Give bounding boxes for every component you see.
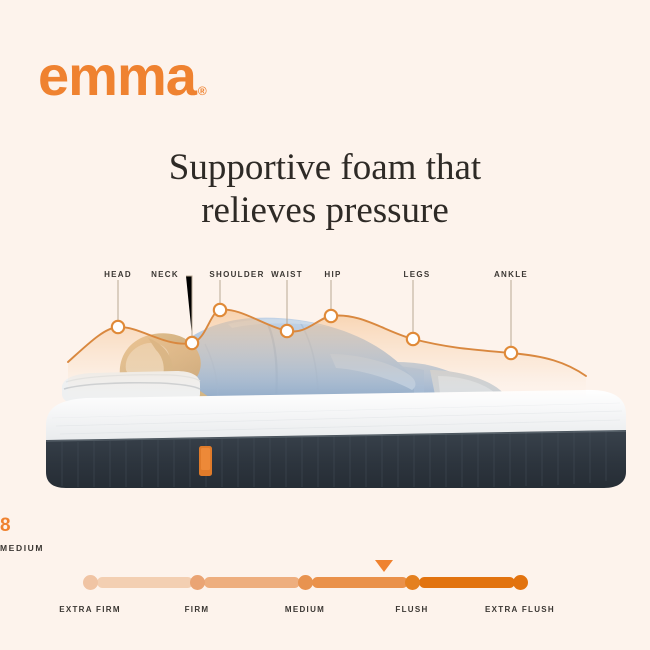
- scale-dot-extra-firm[interactable]: [83, 575, 98, 590]
- bodypart-label-head: HEAD: [104, 270, 132, 279]
- emma-logo: emma ®: [38, 48, 207, 104]
- firmness-rating-label: MEDIUM: [0, 543, 650, 553]
- marker-neck: [186, 337, 198, 349]
- scale-label-flush: FLUSH: [395, 605, 428, 614]
- page-title: Supportive foam that relieves pressure: [0, 146, 650, 233]
- scale-dot-flush[interactable]: [405, 575, 420, 590]
- firmness-scale: 8 MEDIUM EXTRA FIRM FIRM MEDIUM FLUSH EX…: [0, 515, 650, 635]
- scale-segment-3: [312, 577, 408, 588]
- headline-line-2: relieves pressure: [0, 189, 650, 232]
- marker-ankle: [505, 347, 517, 359]
- headline-line-1: Supportive foam that: [169, 147, 481, 188]
- pressure-curve-diagram: HEAD NECK SHOULDER WAIST HIP LEGS ANKLE: [0, 258, 650, 508]
- scale-dot-medium[interactable]: [298, 575, 313, 590]
- scale-segment-2: [204, 577, 300, 588]
- scale-segment-1: [97, 577, 193, 588]
- marker-hip: [325, 310, 337, 322]
- scale-dot-extra-flush[interactable]: [513, 575, 528, 590]
- bodypart-label-waist: WAIST: [271, 270, 303, 279]
- marker-waist: [281, 325, 293, 337]
- pressure-curve-svg: [0, 258, 650, 398]
- bodypart-label-legs: LEGS: [404, 270, 431, 279]
- marker-shoulder: [214, 304, 226, 316]
- scale-label-extra-flush: EXTRA FLUSH: [485, 605, 555, 614]
- scale-label-medium: MEDIUM: [285, 605, 325, 614]
- scale-label-firm: FIRM: [185, 605, 210, 614]
- marker-head: [112, 321, 124, 333]
- firmness-indicator-caret: [375, 560, 393, 572]
- scale-label-extra-firm: EXTRA FIRM: [59, 605, 121, 614]
- brand-wordmark: emma: [38, 48, 196, 104]
- scale-dot-firm[interactable]: [190, 575, 205, 590]
- bodypart-label-hip: HIP: [324, 270, 341, 279]
- scale-segment-4: [419, 577, 515, 588]
- firmness-rating-value: 8: [0, 515, 650, 537]
- registered-trademark-icon: ®: [198, 84, 207, 98]
- bodypart-label-shoulder: SHOULDER: [209, 270, 264, 279]
- bodypart-label-neck: NECK: [151, 270, 179, 279]
- infographic-canvas: emma ® Supportive foam that relieves pre…: [0, 0, 650, 650]
- bodypart-label-ankle: ANKLE: [494, 270, 528, 279]
- marker-legs: [407, 333, 419, 345]
